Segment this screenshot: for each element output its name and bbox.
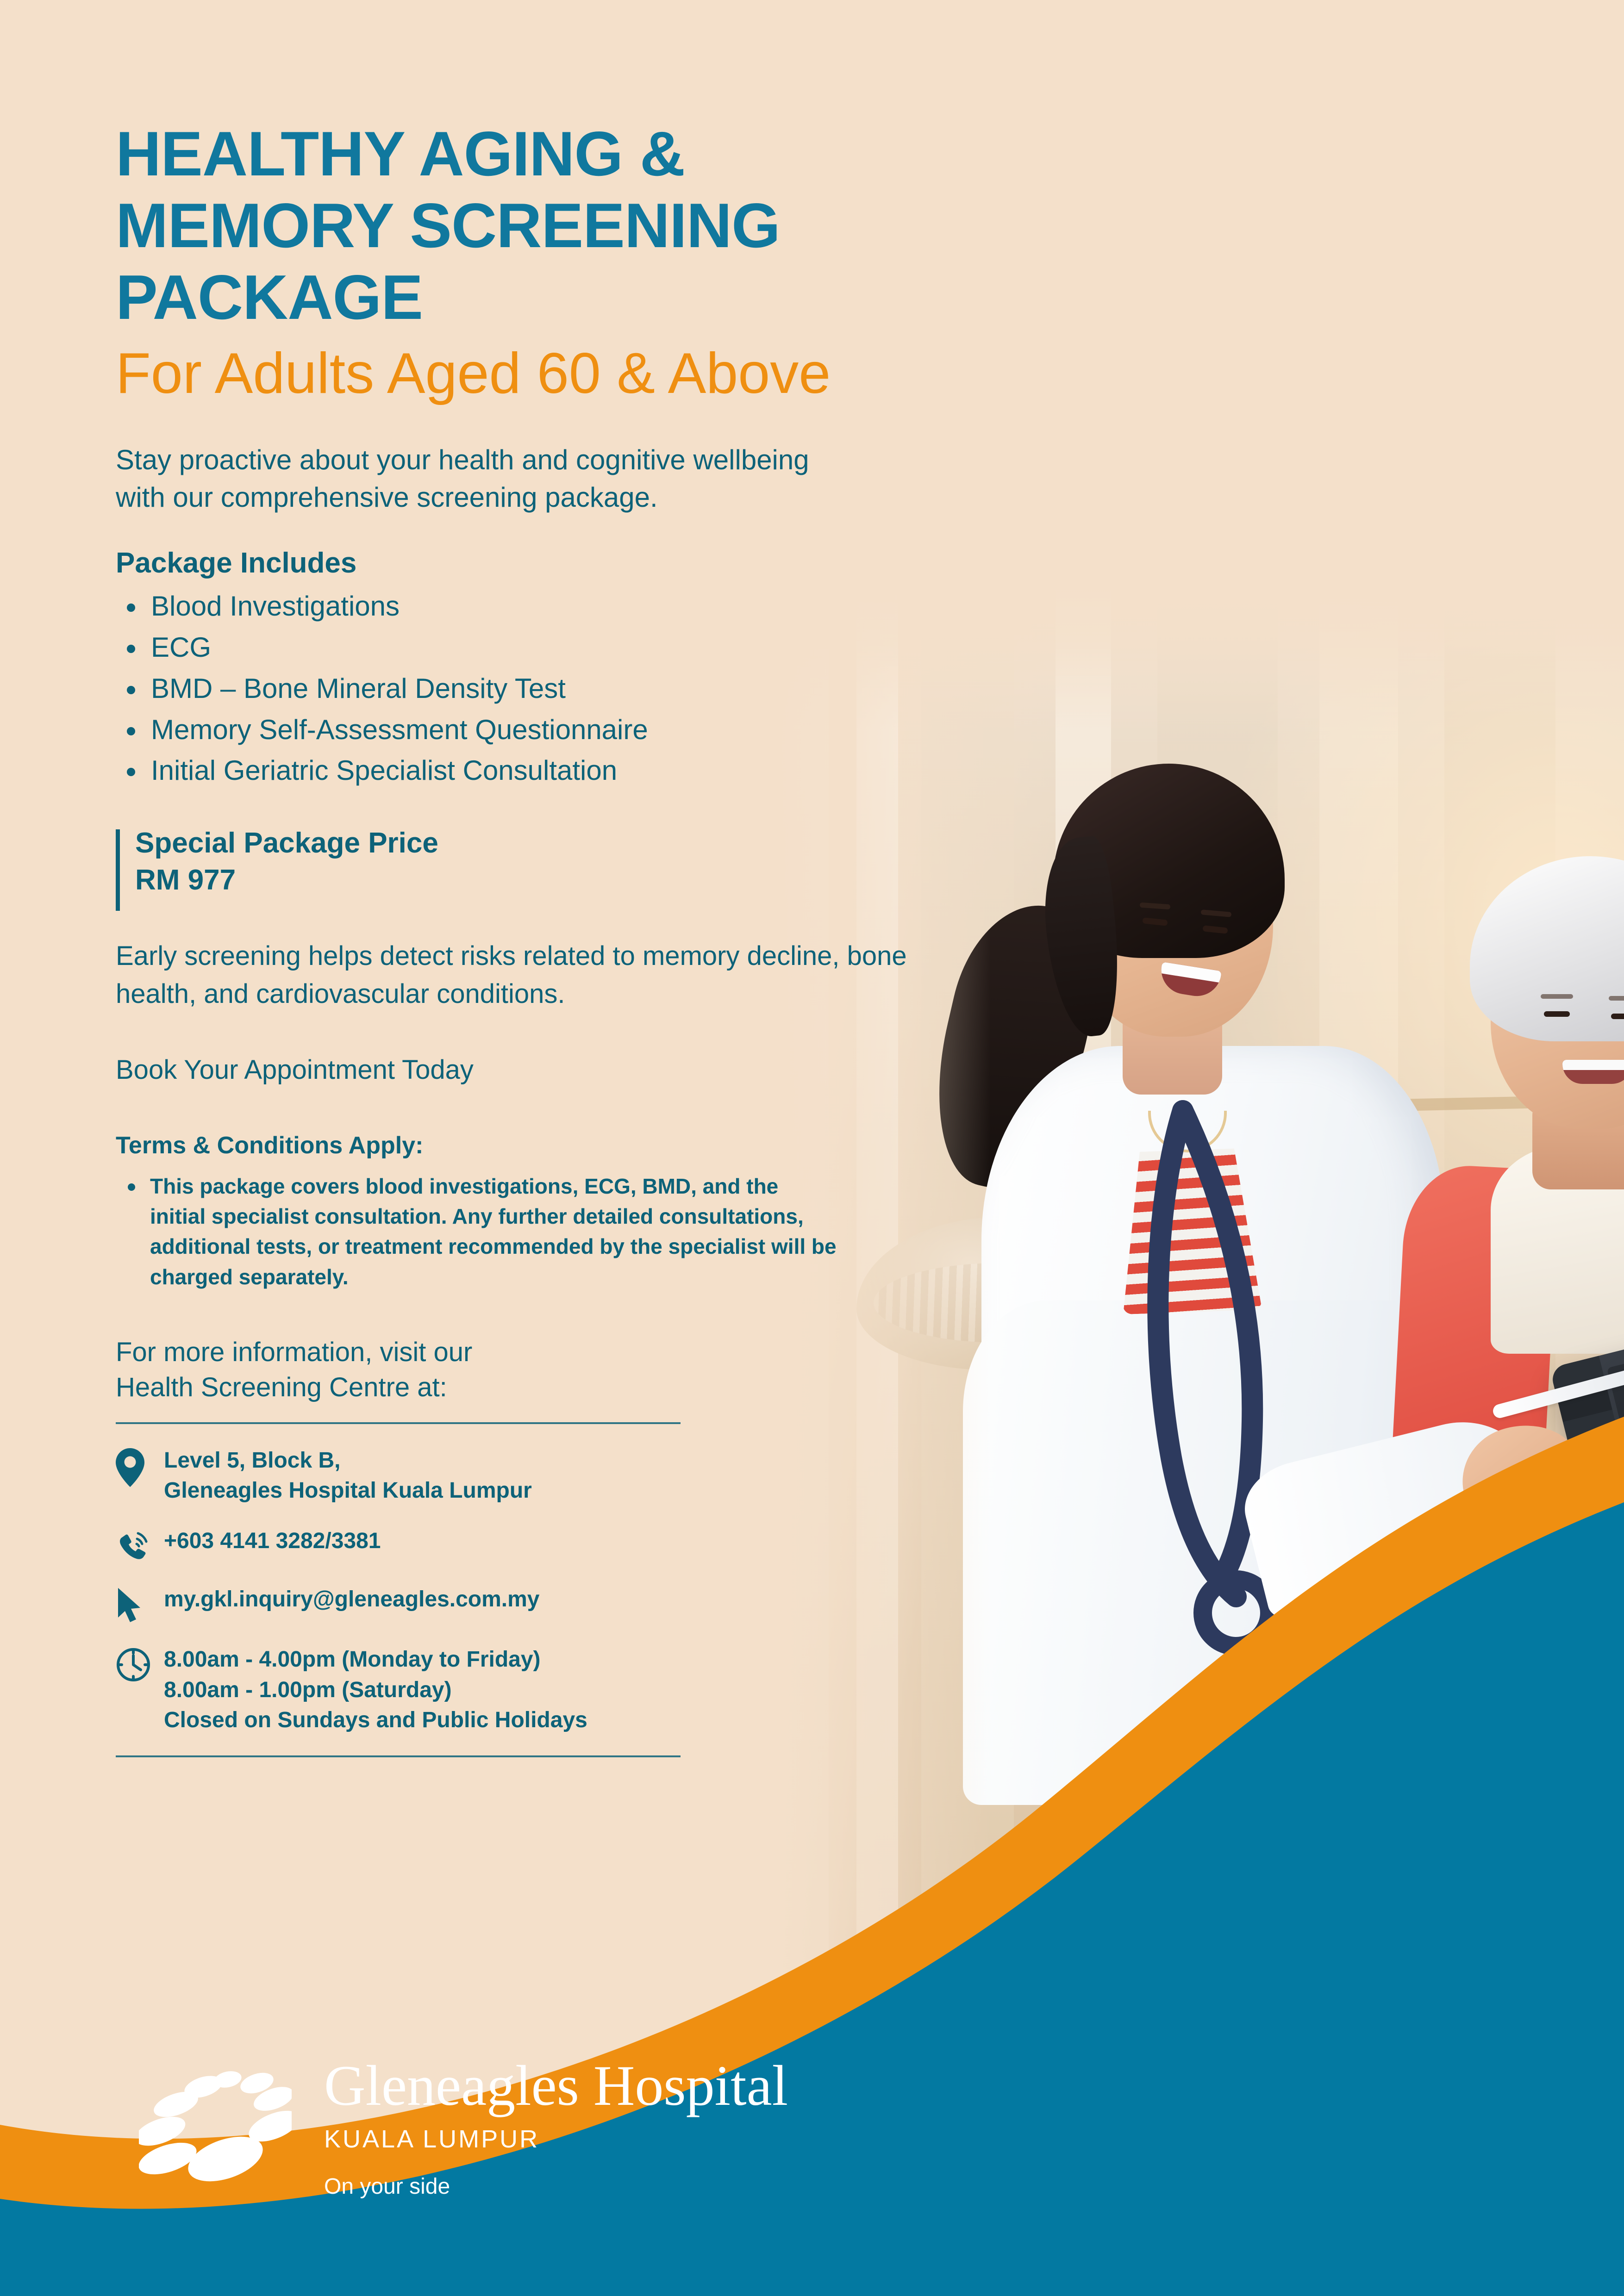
title-line-1: HEALTHY AGING &	[116, 118, 1065, 190]
package-includes-heading: Package Includes	[116, 547, 1065, 579]
contact-address: Level 5, Block B, Gleneagles Hospital Ku…	[116, 1445, 1065, 1506]
gleneagles-petal-mark-icon	[139, 2062, 292, 2215]
contact-email[interactable]: my.gkl.inquiry@gleneagles.com.my	[116, 1584, 1065, 1624]
address-line-2: Gleneagles Hospital Kuala Lumpur	[164, 1475, 532, 1506]
page-subtitle: For Adults Aged 60 & Above	[116, 340, 1065, 407]
cursor-arrow-icon	[116, 1584, 164, 1624]
hours-line-1: 8.00am - 4.00pm (Monday to Friday)	[164, 1644, 587, 1674]
intro-paragraph: Stay proactive about your health and cog…	[116, 442, 866, 516]
content-column: HEALTHY AGING & MEMORY SCREENING PACKAGE…	[116, 0, 1065, 1757]
benefit-note: Early screening helps detect risks relat…	[116, 937, 963, 1014]
price-accent-bar	[116, 829, 120, 911]
contact-phone[interactable]: +603 4141 3282/3381	[116, 1526, 1065, 1564]
page-title: HEALTHY AGING & MEMORY SCREENING PACKAGE	[116, 118, 1065, 333]
divider-top	[116, 1422, 681, 1424]
visit-line-1: For more information, visit our	[116, 1335, 1065, 1370]
list-item: This package covers blood investigations…	[116, 1171, 838, 1292]
phone-ringing-icon	[116, 1526, 164, 1564]
brand-name: Gleneagles Hospital	[324, 2057, 880, 2115]
contact-hours: 8.00am - 4.00pm (Monday to Friday) 8.00a…	[116, 1644, 1065, 1735]
patient-eye	[1611, 1014, 1624, 1019]
patient-eyebrow	[1609, 996, 1624, 1001]
brand-tagline: On your side	[324, 2174, 880, 2199]
list-item: Initial Geriatric Specialist Consultatio…	[116, 750, 1065, 791]
terms-list: This package covers blood investigations…	[116, 1171, 1065, 1292]
patient-smile	[1562, 1060, 1624, 1084]
price-value: RM 977	[135, 862, 1065, 898]
price-block: Special Package Price RM 977	[116, 825, 1065, 898]
call-to-action: Book Your Appointment Today	[116, 1054, 1065, 1085]
package-includes-list: Blood Investigations ECG BMD – Bone Mine…	[116, 586, 1065, 791]
poster-root: HEALTHY AGING & MEMORY SCREENING PACKAGE…	[0, 0, 1624, 2296]
hours-line-3: Closed on Sundays and Public Holidays	[164, 1705, 587, 1735]
list-item: ECG	[116, 627, 1065, 668]
divider-bottom	[116, 1755, 681, 1757]
list-item: Memory Self-Assessment Questionnaire	[116, 709, 1065, 751]
list-item: BMD – Bone Mineral Density Test	[116, 668, 1065, 709]
visit-heading: For more information, visit our Health S…	[116, 1335, 1065, 1406]
hours-line-2: 8.00am - 1.00pm (Saturday)	[164, 1675, 587, 1705]
address-line-1: Level 5, Block B,	[164, 1445, 532, 1475]
clock-icon	[116, 1644, 164, 1682]
brand-city: KUALA LUMPUR	[324, 2125, 880, 2153]
list-item: Blood Investigations	[116, 586, 1065, 627]
phone-text: +603 4141 3282/3381	[164, 1526, 381, 1556]
patient-eye	[1544, 1011, 1570, 1017]
patient-eyebrow	[1541, 994, 1573, 999]
title-line-2: MEMORY SCREENING PACKAGE	[116, 190, 1065, 333]
footer-brand: Gleneagles Hospital KUALA LUMPUR On your…	[139, 2062, 926, 2247]
email-text: my.gkl.inquiry@gleneagles.com.my	[164, 1584, 540, 1614]
terms-heading: Terms & Conditions Apply:	[116, 1132, 1065, 1159]
brand-text: Gleneagles Hospital KUALA LUMPUR On your…	[324, 2057, 880, 2199]
price-label: Special Package Price	[135, 825, 1065, 861]
hours-text: 8.00am - 4.00pm (Monday to Friday) 8.00a…	[164, 1644, 587, 1735]
visit-line-2: Health Screening Centre at:	[116, 1370, 1065, 1406]
address-text: Level 5, Block B, Gleneagles Hospital Ku…	[164, 1445, 532, 1506]
location-pin-icon	[116, 1445, 164, 1487]
contact-list: Level 5, Block B, Gleneagles Hospital Ku…	[116, 1445, 1065, 1735]
